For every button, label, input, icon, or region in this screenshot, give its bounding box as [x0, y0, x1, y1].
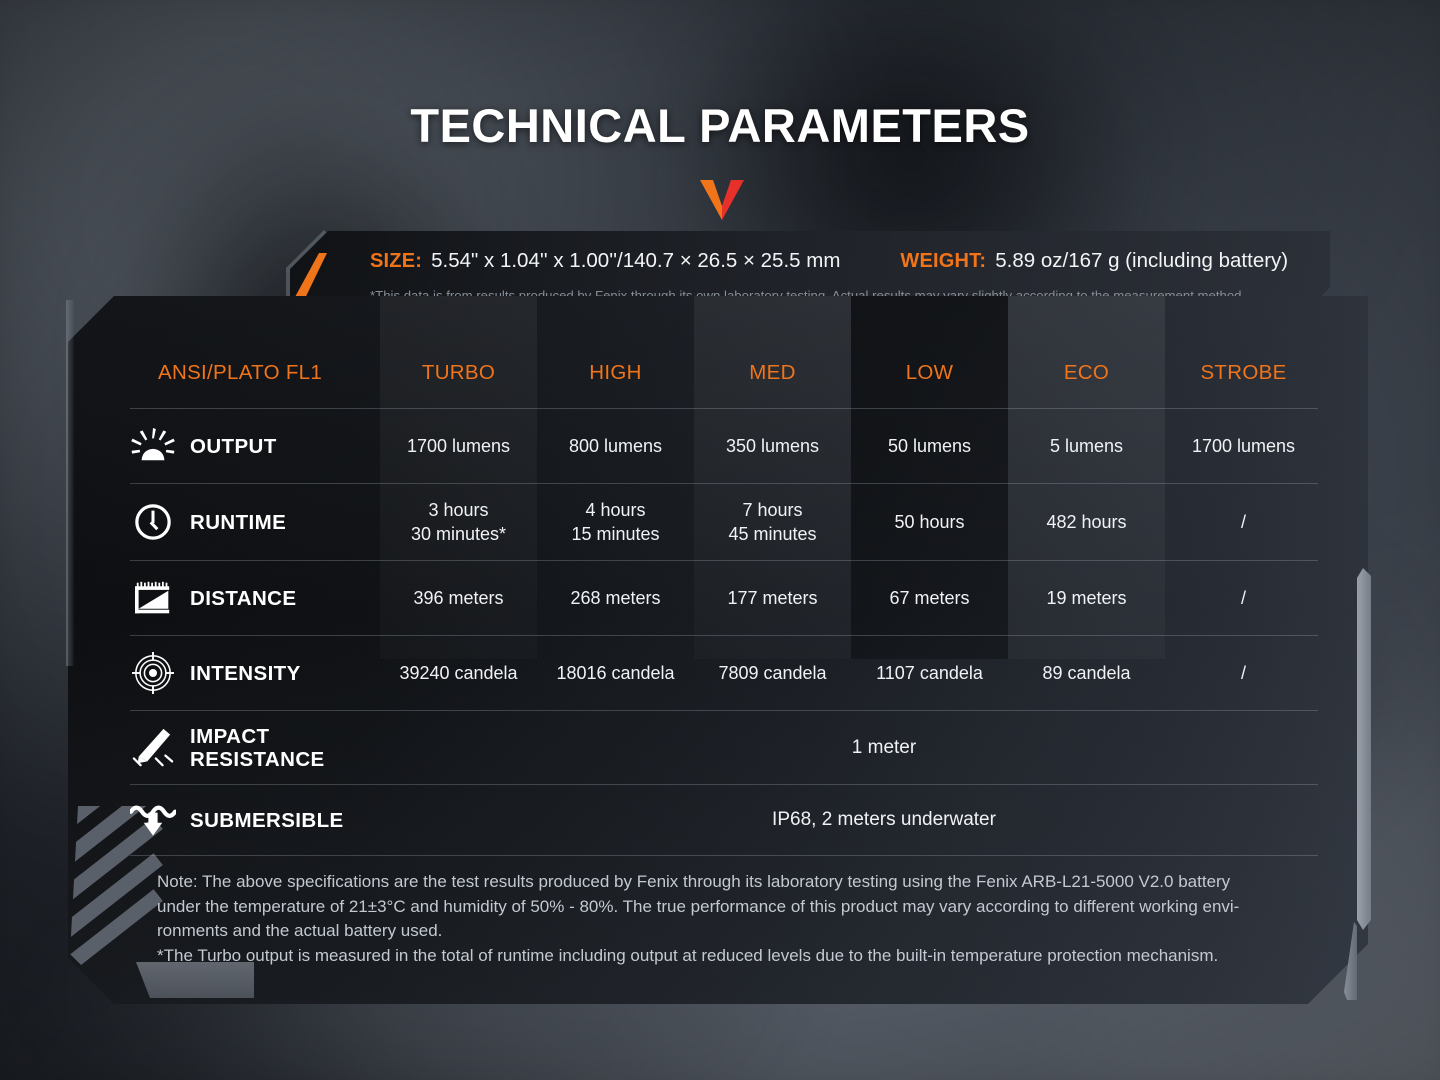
- cell-distance-strobe: /: [1165, 561, 1322, 635]
- cell-runtime-turbo: 3 hours 30 minutes*: [380, 484, 537, 560]
- row-label-distance: DISTANCE: [130, 561, 296, 635]
- page-title-wrap: TECHNICAL PARAMETERS: [0, 98, 1440, 153]
- cell-intensity-low: 1107 candela: [851, 636, 1008, 710]
- cell-intensity-turbo: 39240 candela: [380, 636, 537, 710]
- cell-runtime-strobe: /: [1165, 484, 1322, 560]
- page-title: TECHNICAL PARAMETERS: [0, 98, 1440, 153]
- chevron-down-icon: [700, 180, 744, 220]
- table-row: OUTPUT 1700 lumens 800 lumens 350 lumens…: [68, 409, 1368, 483]
- cell-distance-high: 268 meters: [537, 561, 694, 635]
- cell-output-strobe: 1700 lumens: [1165, 409, 1322, 483]
- size-value: 5.54" x 1.04'' x 1.00''/140.7 × 26.5 × 2…: [431, 249, 840, 273]
- header-cell-5: ECO: [1008, 340, 1165, 405]
- cell-output-high: 800 lumens: [537, 409, 694, 483]
- row-label-submersible: SUBMERSIBLE: [130, 785, 344, 855]
- cell-impact-value: 1 meter: [446, 711, 1322, 784]
- target-crosshair-icon: [130, 653, 176, 693]
- cell-runtime-med: 7 hours 45 minutes: [694, 484, 851, 560]
- cell-intensity-strobe: /: [1165, 636, 1322, 710]
- header-cell-0: ANSI/PLATO FL1: [158, 340, 380, 405]
- sun-rays-icon: [130, 426, 176, 466]
- row-label-text: RUNTIME: [190, 511, 286, 534]
- ruler-beam-icon: [130, 578, 176, 618]
- header-cell-3: MED: [694, 340, 851, 405]
- table-row: SUBMERSIBLE IP68, 2 meters underwater: [68, 785, 1368, 855]
- table-row: RUNTIME 3 hours 30 minutes* 4 hours 15 m…: [68, 484, 1368, 560]
- row-label-text: INTENSITY: [190, 662, 301, 685]
- header-cell-4: LOW: [851, 340, 1008, 405]
- clock-icon: [130, 502, 176, 542]
- header-cell-2: HIGH: [537, 340, 694, 405]
- cell-runtime-high: 4 hours 15 minutes: [537, 484, 694, 560]
- cell-output-low: 50 lumens: [851, 409, 1008, 483]
- footer-note: Note: The above specifications are the t…: [157, 870, 1317, 968]
- cell-intensity-high: 18016 candela: [537, 636, 694, 710]
- table-row: INTENSITY 39240 candela 18016 candela 78…: [68, 636, 1368, 710]
- row-label-output: OUTPUT: [130, 409, 277, 483]
- impact-drop-icon: [130, 728, 176, 768]
- banner-spec-row: SIZE: 5.54" x 1.04'' x 1.00''/140.7 × 26…: [370, 249, 1288, 273]
- cell-distance-turbo: 396 meters: [380, 561, 537, 635]
- cell-runtime-low: 50 hours: [851, 484, 1008, 560]
- size-label: SIZE:: [370, 250, 422, 273]
- note-line-3: ronments and the actual battery used.: [157, 919, 1317, 944]
- weight-label: WEIGHT:: [900, 250, 986, 273]
- note-line-2: under the temperature of 21±3°C and humi…: [157, 895, 1317, 920]
- cell-distance-eco: 19 meters: [1008, 561, 1165, 635]
- cell-distance-med: 177 meters: [694, 561, 851, 635]
- row-label-text: IMPACT RESISTANCE: [190, 725, 325, 771]
- row-label-impact: IMPACT RESISTANCE: [130, 711, 325, 784]
- cell-intensity-med: 7809 candela: [694, 636, 851, 710]
- row-label-text: OUTPUT: [190, 435, 277, 458]
- header-cell-1: TURBO: [380, 340, 537, 405]
- cell-runtime-eco: 482 hours: [1008, 484, 1165, 560]
- cell-output-med: 350 lumens: [694, 409, 851, 483]
- water-submersion-icon: [130, 800, 176, 840]
- row-label-text: SUBMERSIBLE: [190, 809, 344, 832]
- cell-intensity-eco: 89 candela: [1008, 636, 1165, 710]
- header-cell-6: STROBE: [1165, 340, 1322, 405]
- table-row: IMPACT RESISTANCE 1 meter: [68, 711, 1368, 784]
- weight-value: 5.89 oz/167 g (including battery): [995, 249, 1288, 273]
- cell-submersible-value: IP68, 2 meters underwater: [446, 785, 1322, 855]
- table-row: DISTANCE 396 meters 268 meters 177 meter…: [68, 561, 1368, 635]
- note-line-4: *The Turbo output is measured in the tot…: [157, 944, 1317, 969]
- cell-output-eco: 5 lumens: [1008, 409, 1165, 483]
- row-label-intensity: INTENSITY: [130, 636, 301, 710]
- cell-distance-low: 67 meters: [851, 561, 1008, 635]
- row-label-text: DISTANCE: [190, 587, 296, 610]
- row-label-runtime: RUNTIME: [130, 484, 286, 560]
- note-line-1: Note: The above specifications are the t…: [157, 870, 1317, 895]
- cell-output-turbo: 1700 lumens: [380, 409, 537, 483]
